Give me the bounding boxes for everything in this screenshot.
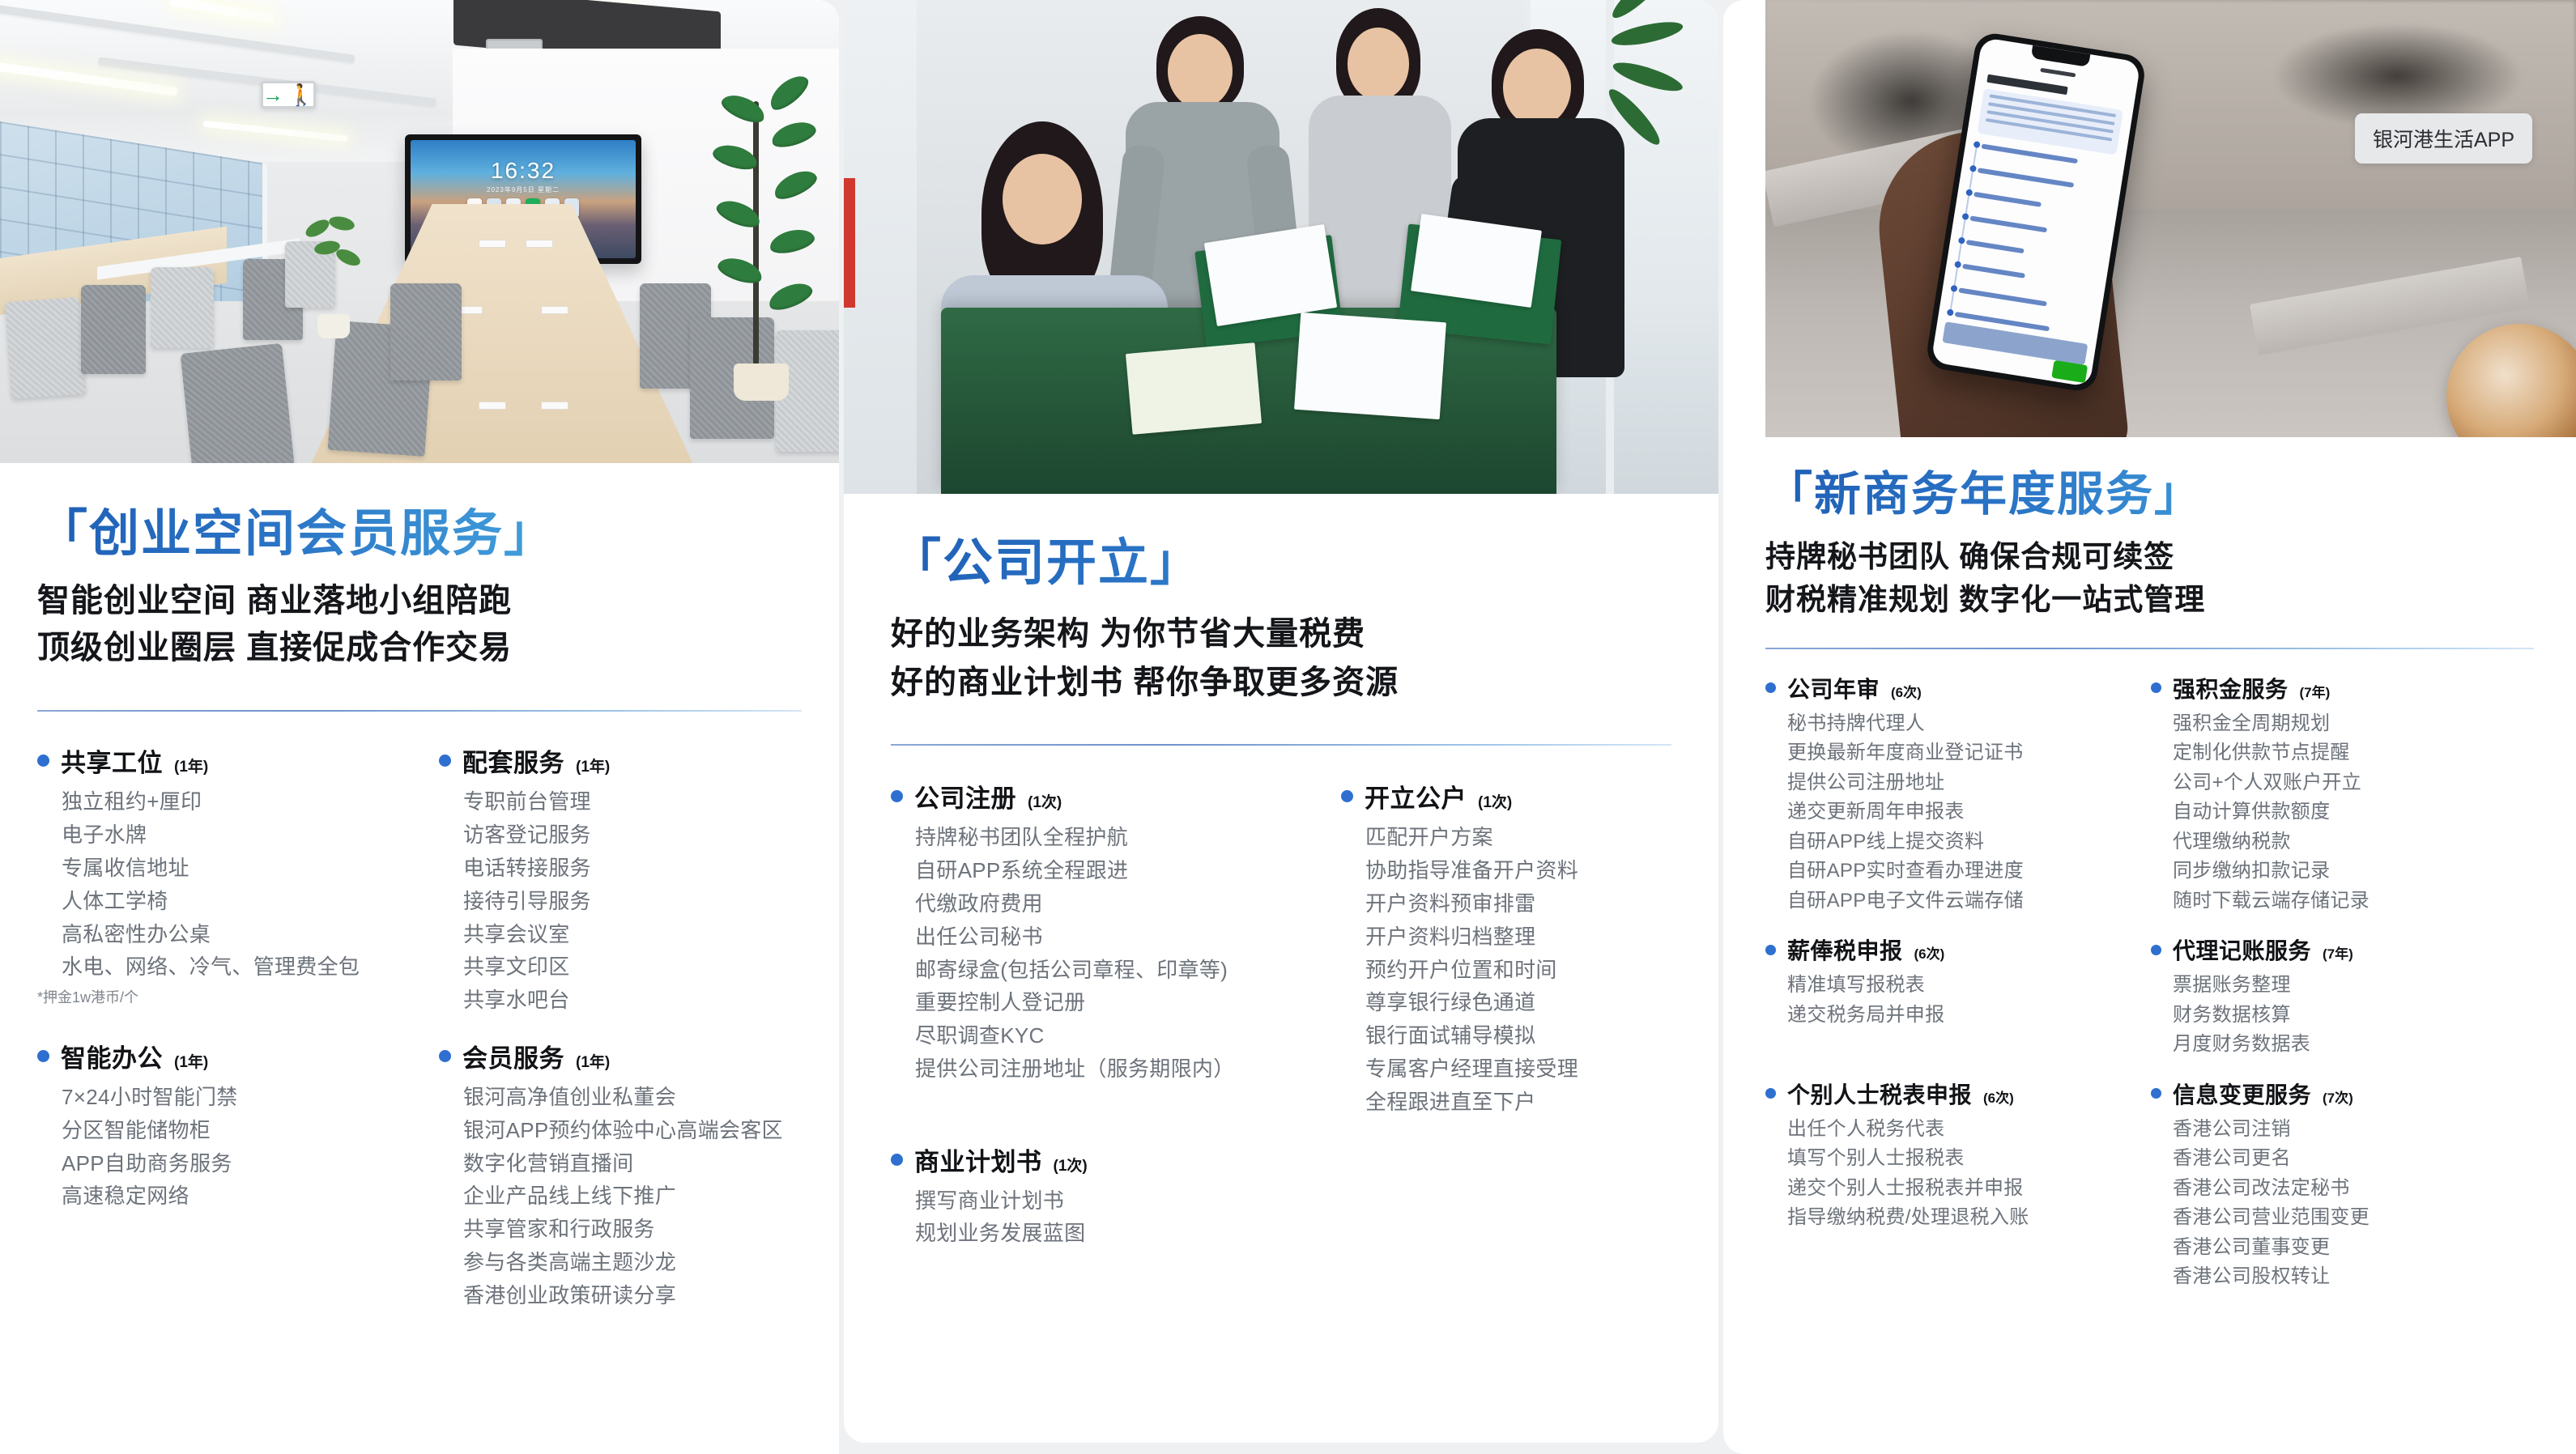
list-item: 共享文印区: [463, 950, 802, 984]
list-item: 水电、网络、冷气、管理费全包: [62, 950, 426, 984]
service-group-quantity: (1年): [174, 1050, 208, 1072]
list-item: 指导缴纳税费/处理退税入账: [1787, 1203, 2138, 1232]
running-person-icon: 🚶: [288, 84, 314, 105]
list-item: 更换最新年度商业登记证书: [1787, 738, 2138, 767]
bullet-icon: [37, 755, 49, 767]
exit-sign: → 🚶: [261, 81, 316, 108]
list-item: 重要控制人登记册: [915, 986, 1328, 1019]
service-group-header: 公司注册 (1次): [891, 778, 1328, 814]
service-group[interactable]: 信息变更服务 (7次) 香港公司注销 香港公司更名 香港公司改法定秘书 香港公司…: [2151, 1078, 2534, 1292]
head: [1503, 49, 1571, 126]
page-title: 「新商务年度服务」: [1765, 468, 2534, 522]
app-notice-box: [1977, 88, 2123, 155]
arrow-right-icon: →: [262, 84, 283, 105]
table-port: [526, 240, 553, 248]
paper-sheet: [1411, 214, 1542, 308]
list-item: 香港公司股权转让: [2173, 1262, 2534, 1291]
service-group-name: 公司注册: [914, 778, 1016, 814]
list-item: 强积金全周期规划: [2173, 709, 2534, 738]
plant-pot: [734, 363, 789, 401]
bullet-icon: [2151, 682, 2161, 693]
service-group-quantity: (1年): [174, 755, 208, 776]
service-group-name: 共享工位: [61, 742, 163, 779]
list-item: 邮寄绿盒(包括公司章程、印章等): [915, 954, 1328, 987]
list-item: 专属客户经理直接受理: [1365, 1052, 1671, 1086]
service-group[interactable]: 商业计划书 (1次) 撰写商业计划书 规划业务发展蓝图: [891, 1142, 1328, 1251]
service-item-list: 独立租约+厘印 电子水牌 专属收信地址 人体工学椅 高私密性办公桌 水电、网络、…: [62, 785, 426, 984]
bullet-icon: [1765, 682, 1776, 693]
card-body: 「公司开立」 好的业务架构 为你节省大量税费 好的商业计划书 帮你争取更多资源 …: [844, 534, 1718, 1250]
card-body: 「创业空间会员服务」 智能创业空间 商业落地小组陪跑 顶级创业圈层 直接促成合作…: [0, 505, 839, 1312]
service-group-header: 强积金服务 (7年): [2151, 672, 2534, 704]
service-group-quantity: (1次): [1478, 790, 1512, 812]
table-port: [479, 240, 506, 248]
list-item: 预约开户位置和时间: [1365, 954, 1671, 987]
bullet-icon: [1765, 945, 1776, 955]
timeline-step: [1962, 264, 2025, 278]
list-item: 出任公司秘书: [915, 920, 1328, 954]
service-group[interactable]: 开立公户 (1次) 匹配开户方案 协助指导准备开户资料 开户资料预审排雷 开户资…: [1341, 778, 1671, 1118]
subtitle-line: 财税精准规划 数字化一站式管理: [1765, 578, 2534, 622]
service-group-header: 会员服务 (1年): [439, 1038, 802, 1074]
timeline-step: [1978, 168, 2074, 188]
hero-image-office: → 🚶 16:32 2023年9月5日 星期二: [0, 0, 839, 463]
head: [1348, 28, 1409, 100]
list-item: 协助指导准备开户资料: [1365, 854, 1671, 887]
service-group[interactable]: 个别人士税表申报 (6次) 出任个人税务代表 填写个别人士报税表 递交个别人士报…: [1765, 1078, 2138, 1292]
service-group-quantity: (7次): [2323, 1086, 2353, 1107]
service-group-note: *押金1w港币/个: [37, 986, 426, 1007]
timeline-dot: [1958, 237, 1965, 244]
service-group[interactable]: 智能办公 (1年) 7×24小时智能门禁 分区智能储物柜 APP自助商务服务 高…: [37, 1038, 426, 1312]
list-item: 7×24小时智能门禁: [62, 1081, 426, 1114]
service-group-header: 公司年审 (6次): [1765, 672, 2138, 704]
list-item: 专属收信地址: [62, 852, 426, 885]
list-item: 公司+个人双账户开立: [2173, 768, 2534, 797]
service-group-name: 个别人士税表申报: [1787, 1078, 1972, 1110]
list-item: 香港公司改法定秘书: [2173, 1174, 2534, 1203]
list-item: 参与各类高端主题沙龙: [463, 1246, 802, 1279]
list-item: 访客登记服务: [463, 818, 802, 852]
leaf: [768, 226, 817, 257]
subtitle-line: 持牌秘书团队 确保合规可续签: [1765, 535, 2534, 579]
list-item: 专职前台管理: [463, 785, 802, 818]
list-item: 尽职调查KYC: [915, 1019, 1328, 1052]
service-group-name: 智能办公: [61, 1038, 163, 1074]
app-name-badge: 银河港生活APP: [2355, 113, 2532, 164]
subtitle-line: 顶级创业圈层 直接促成合作交易: [37, 624, 802, 671]
leaf: [764, 70, 813, 115]
card-subtitle: 持牌秘书团队 确保合规可续签 财税精准规划 数字化一站式管理: [1765, 535, 2534, 622]
bullet-icon: [1341, 790, 1353, 802]
service-item-list: 撰写商业计划书 规划业务发展蓝图: [915, 1184, 1328, 1251]
list-item: 自研APP线上提交资料: [1787, 827, 2138, 857]
office-chair: [390, 283, 462, 381]
service-group-header: 开立公户 (1次): [1341, 778, 1671, 814]
plant-pot: [317, 314, 350, 338]
leaf: [328, 215, 356, 232]
timeline-step: [1958, 287, 2047, 306]
bullet-icon: [2151, 1088, 2161, 1099]
card-subtitle: 智能创业空间 商业落地小组陪跑 顶级创业圈层 直接促成合作交易: [37, 577, 802, 671]
service-group-name: 强积金服务: [2173, 672, 2289, 704]
timeline-step: [1966, 240, 2025, 253]
list-item: 递交更新周年申报表: [1787, 797, 2138, 827]
bullet-icon: [891, 790, 903, 802]
list-item: 共享管家和行政服务: [463, 1213, 802, 1246]
service-group-name: 开立公户: [1365, 778, 1467, 814]
service-group[interactable]: 会员服务 (1年) 银河高净值创业私董会 银河APP预约体验中心高端会客区 数字…: [439, 1038, 802, 1312]
service-card-annual-services: 银河港生活APP 「新商务年度服务」 持牌秘书团队 确保合规可续签 财税精准规划…: [1723, 0, 2576, 1454]
timeline-step: [1969, 215, 2047, 232]
service-group-name: 公司年审: [1787, 672, 1880, 704]
service-item-list: 强积金全周期规划 定制化供款节点提醒 公司+个人双账户开立 自动计算供款额度 代…: [2173, 709, 2534, 916]
service-group-name: 配套服务: [462, 742, 564, 779]
head: [1168, 34, 1233, 108]
list-item: 规划业务发展蓝图: [915, 1217, 1328, 1250]
card-body: 「新商务年度服务」 持牌秘书团队 确保合规可续签 财税精准规划 数字化一站式管理…: [1723, 468, 2576, 1291]
service-group-name: 商业计划书: [914, 1142, 1042, 1178]
list-item: 接待引导服务: [463, 885, 802, 918]
office-chair: [5, 297, 86, 399]
service-group-quantity: (7年): [2323, 942, 2353, 963]
service-group-name: 代理记账服务: [2173, 933, 2311, 966]
service-group-grid: 共享工位 (1年) 独立租约+厘印 电子水牌 专属收信地址 人体工学椅 高私密性…: [37, 742, 802, 1312]
paper-sheet: [1126, 342, 1262, 435]
list-item: 月度财务数据表: [2173, 1030, 2534, 1059]
timeline-dot: [1969, 165, 1977, 172]
list-item: 独立租约+厘印: [62, 785, 426, 818]
service-group[interactable]: 配套服务 (1年) 专职前台管理 访客登记服务 电话转接服务 接待引导服务 共享…: [439, 742, 802, 1017]
office-chair: [151, 267, 214, 348]
card-subtitle: 好的业务架构 为你节省大量税费 好的商业计划书 帮你争取更多资源: [891, 610, 1671, 707]
small-plant: [300, 217, 373, 338]
leaf: [718, 90, 769, 128]
list-item: 银河高净值创业私董会: [463, 1081, 802, 1114]
service-group-header: 商业计划书 (1次): [891, 1142, 1328, 1178]
bullet-icon: [2151, 945, 2161, 955]
timeline-dot: [1954, 261, 1961, 268]
list-item: 填写个别人士报税表: [1787, 1144, 2138, 1173]
service-item-list: 银河高净值创业私董会 银河APP预约体验中心高端会客区 数字化营销直播间 企业产…: [463, 1081, 802, 1312]
list-item: 香港公司董事变更: [2173, 1233, 2534, 1262]
list-item: 秘书持牌代理人: [1787, 709, 2138, 738]
plant-stem: [753, 101, 759, 376]
service-group-name: 信息变更服务: [2173, 1078, 2311, 1110]
list-item: 提供公司注册地址（服务期限内）: [915, 1052, 1328, 1086]
list-item: 开户资料预审排雷: [1365, 887, 1671, 920]
service-item-list: 票据账务整理 财务数据核算 月度财务数据表: [2173, 971, 2534, 1059]
leaf: [303, 216, 332, 240]
list-item: 高速稳定网络: [62, 1180, 426, 1213]
service-card-company-setup: 「公司开立」 好的业务架构 为你节省大量税费 好的商业计划书 帮你争取更多资源 …: [844, 0, 1718, 1443]
primary-action-button[interactable]: [1942, 321, 2088, 365]
section-divider: [891, 744, 1671, 746]
service-group-quantity: (1年): [576, 1050, 610, 1072]
service-group-name: 会员服务: [462, 1038, 564, 1074]
subtitle-line: 好的商业计划书 帮你争取更多资源: [891, 658, 1671, 707]
list-item: 香港公司更名: [2173, 1144, 2534, 1173]
list-item: 匹配开户方案: [1365, 821, 1671, 854]
bullet-icon: [37, 1050, 49, 1062]
service-group-name: 薪俸税申报: [1787, 933, 1903, 966]
service-group-header: 共享工位 (1年): [37, 742, 426, 779]
service-group-header: 智能办公 (1年): [37, 1038, 426, 1074]
page-title: 「公司开立」: [891, 534, 1671, 592]
timeline-dot: [1961, 213, 1969, 220]
service-group[interactable]: 公司注册 (1次) 持牌秘书团队全程护航 自研APP系统全程跟进 代缴政府费用 …: [891, 778, 1328, 1118]
list-item: 人体工学椅: [62, 885, 426, 918]
leaf: [770, 165, 820, 204]
paper-sheet: [1294, 312, 1446, 419]
list-item: 自研APP系统全程跟进: [915, 854, 1328, 887]
service-group-grid: 公司年审 (6次) 秘书持牌代理人 更换最新年度商业登记证书 提供公司注册地址 …: [1765, 672, 2534, 1292]
table-port: [541, 402, 568, 410]
list-item: 电子水牌: [62, 818, 426, 852]
red-accent-bar: [844, 178, 855, 308]
service-card-membership: → 🚶 16:32 2023年9月5日 星期二: [0, 0, 839, 1454]
list-item: 出任个人税务代表: [1787, 1115, 2138, 1144]
service-group[interactable]: 强积金服务 (7年) 强积金全周期规划 定制化供款节点提醒 公司+个人双账户开立…: [2151, 672, 2534, 916]
head: [1003, 154, 1082, 244]
list-item: 同步缴纳扣款记录: [2173, 857, 2534, 886]
timeline-dot: [1947, 308, 1954, 316]
list-item: 尊享银行绿色通道: [1365, 986, 1671, 1019]
list-item: 自研APP电子文件云端存储: [1787, 886, 2138, 916]
list-item: 定制化供款节点提醒: [2173, 738, 2534, 767]
nav-title-placeholder: [2040, 67, 2076, 77]
list-item: 开户资料归档整理: [1365, 920, 1671, 954]
section-divider: [1765, 648, 2534, 649]
service-group-header: 信息变更服务 (7次): [2151, 1078, 2534, 1110]
list-item: 提供公司注册地址: [1787, 768, 2138, 797]
service-group-quantity: (1次): [1028, 790, 1062, 812]
list-item: 财务数据核算: [2173, 1001, 2534, 1030]
list-item: 高私密性办公桌: [62, 918, 426, 951]
bullet-icon: [439, 755, 451, 767]
service-item-list: 出任个人税务代表 填写个别人士报税表 递交个别人士报税表并申报 指导缴纳税费/处…: [1787, 1115, 2138, 1233]
hero-image-phone: 银河港生活APP: [1765, 0, 2576, 437]
section-divider: [37, 710, 802, 712]
list-item: 代理缴纳税款: [2173, 827, 2534, 857]
service-group[interactable]: 共享工位 (1年) 独立租约+厘印 电子水牌 专属收信地址 人体工学椅 高私密性…: [37, 742, 426, 1017]
list-item: 香港公司注销: [2173, 1115, 2534, 1144]
service-item-list: 匹配开户方案 协助指导准备开户资料 开户资料预审排雷 开户资料归档整理 预约开户…: [1365, 821, 1671, 1118]
service-item-list: 持牌秘书团队全程护航 自研APP系统全程跟进 代缴政府费用 出任公司秘书 邮寄绿…: [915, 821, 1328, 1086]
bullet-icon: [439, 1050, 451, 1062]
service-group-header: 配套服务 (1年): [439, 742, 802, 779]
office-scene: → 🚶 16:32 2023年9月5日 星期二: [0, 0, 839, 463]
leaf: [765, 278, 815, 314]
list-item: 数字化营销直播间: [463, 1147, 802, 1180]
display-date: 2023年9月5日 星期二: [411, 185, 636, 194]
timeline-dot: [1974, 141, 1981, 148]
list-item: 共享水吧台: [463, 984, 802, 1017]
service-group-grid: 公司注册 (1次) 持牌秘书团队全程护航 自研APP系统全程跟进 代缴政府费用 …: [891, 778, 1671, 1250]
service-group-quantity: (7年): [2300, 681, 2331, 701]
list-item: 自动计算供款额度: [2173, 797, 2534, 827]
service-group-header: 薪俸税申报 (6次): [1765, 933, 2138, 966]
timeline-step: [1974, 192, 2042, 207]
list-item: 代缴政府费用: [915, 887, 1328, 920]
list-item: 共享会议室: [463, 918, 802, 951]
service-item-list: 专职前台管理 访客登记服务 电话转接服务 接待引导服务 共享会议室 共享文印区 …: [463, 785, 802, 1017]
subtitle-line: 智能创业空间 商业落地小组陪跑: [37, 577, 802, 624]
list-item: 持牌秘书团队全程护航: [915, 821, 1328, 854]
service-group-quantity: (1年): [576, 755, 610, 776]
office-chair: [181, 343, 295, 463]
service-group[interactable]: 薪俸税申报 (6次) 精准填写报税表 递交税务局并申报: [1765, 933, 2138, 1059]
list-item: 电话转接服务: [463, 852, 802, 885]
list-item: 随时下载云端存储记录: [2173, 886, 2534, 916]
bullet-icon: [891, 1154, 903, 1166]
list-item: 银行面试辅导模拟: [1365, 1019, 1671, 1052]
service-item-list: 7×24小时智能门禁 分区智能储物柜 APP自助商务服务 高速稳定网络: [62, 1081, 426, 1213]
large-plant: [703, 77, 824, 401]
list-item: APP自助商务服务: [62, 1147, 426, 1180]
service-group-quantity: (1次): [1054, 1154, 1088, 1176]
list-item: 撰写商业计划书: [915, 1184, 1328, 1218]
service-group-header: 代理记账服务 (7年): [2151, 933, 2534, 966]
subtitle-line: 好的业务架构 为你节省大量税费: [891, 610, 1671, 658]
display-clock: 16:32: [411, 158, 636, 184]
cafe-scene: 银河港生活APP: [1765, 0, 2576, 437]
bullet-icon: [1765, 1088, 1776, 1099]
list-item: 企业产品线上线下推广: [463, 1180, 802, 1213]
service-item-list: 精准填写报税表 递交税务局并申报: [1787, 971, 2138, 1030]
timeline-dot: [1950, 285, 1957, 292]
leaf: [769, 117, 818, 151]
service-group-header: 个别人士税表申报 (6次): [1765, 1078, 2138, 1110]
service-group[interactable]: 代理记账服务 (7年) 票据账务整理 财务数据核算 月度财务数据表: [2151, 933, 2534, 1059]
list-item: 票据账务整理: [2173, 971, 2534, 1000]
page-title: 「创业空间会员服务」: [37, 505, 802, 563]
service-group[interactable]: 公司年审 (6次) 秘书持牌代理人 更换最新年度商业登记证书 提供公司注册地址 …: [1765, 672, 2138, 916]
service-item-list: 香港公司注销 香港公司更名 香港公司改法定秘书 香港公司营业范围变更 香港公司董…: [2173, 1115, 2534, 1292]
table-port: [541, 306, 568, 314]
poster-stage: → 🚶 16:32 2023年9月5日 星期二: [0, 0, 2576, 1454]
service-group-quantity: (6次): [1891, 681, 1922, 701]
list-item: 分区智能储物柜: [62, 1114, 426, 1147]
table-port: [479, 402, 506, 410]
list-item: 香港创业政策研读分享: [463, 1279, 802, 1312]
list-item: 全程跟进直至下户: [1365, 1086, 1671, 1119]
service-group-quantity: (6次): [1914, 942, 1945, 963]
team-documents-scene: [844, 0, 1718, 494]
list-item: 精准填写报税表: [1787, 971, 2138, 1000]
list-item: 香港公司营业范围变更: [2173, 1203, 2534, 1232]
service-group-quantity: (6次): [1983, 1086, 2014, 1107]
list-item: 自研APP实时查看办理进度: [1787, 857, 2138, 886]
timeline-dot: [1965, 189, 1973, 196]
list-item: 银河APP预约体验中心高端会客区: [463, 1114, 802, 1147]
leaf: [334, 246, 363, 269]
leaf: [1607, 0, 1674, 23]
office-chair: [81, 285, 146, 374]
list-item: 递交税务局并申报: [1787, 1001, 2138, 1030]
service-item-list: 秘书持牌代理人 更换最新年度商业登记证书 提供公司注册地址 递交更新周年申报表 …: [1787, 709, 2138, 916]
hero-image-team: [844, 0, 1718, 494]
list-item: 递交个别人士报税表并申报: [1787, 1174, 2138, 1203]
